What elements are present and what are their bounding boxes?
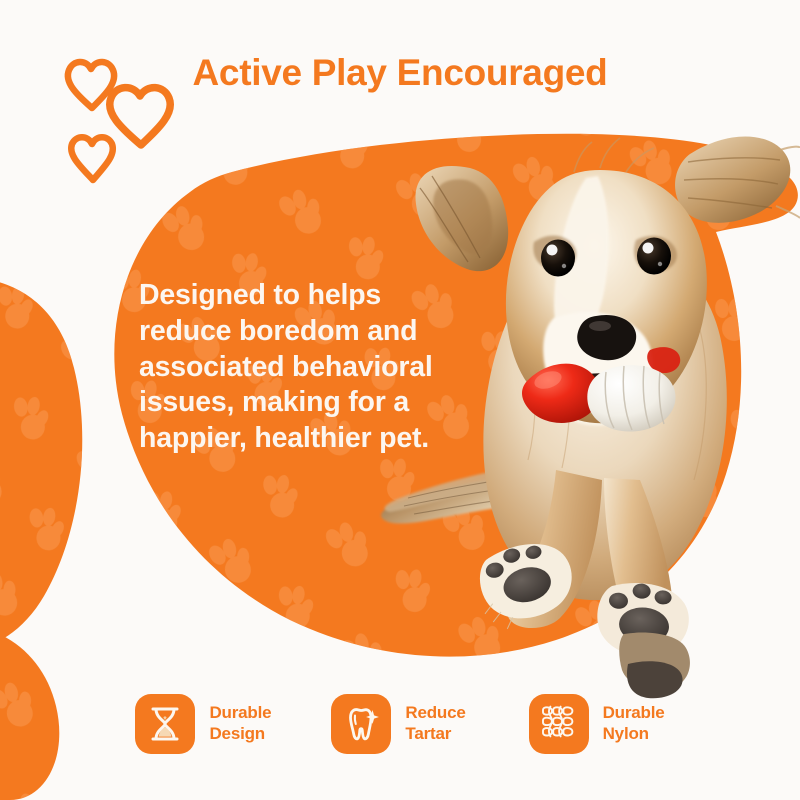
body-line: reduce boredom and xyxy=(139,314,479,350)
body-line: associated behavioral xyxy=(139,350,479,386)
dog-eye-right xyxy=(637,238,671,275)
body-copy: Designed to helps reduce boredom and ass… xyxy=(139,278,479,457)
body-line: happier, healthier pet. xyxy=(139,421,479,457)
dog-eye-left xyxy=(541,240,575,277)
dog-ear-left xyxy=(415,166,508,271)
badge-tile xyxy=(529,694,589,754)
badge-label-line1: Durable xyxy=(603,703,665,722)
body-line: Designed to helps xyxy=(139,278,479,314)
promo-banner: Active Play Encouraged xyxy=(0,0,800,800)
hourglass-icon xyxy=(145,704,185,744)
badge-label-line2: Tartar xyxy=(405,724,465,745)
dog-ear-right xyxy=(675,137,800,223)
feature-badge-durable-nylon[interactable]: Durable Nylon xyxy=(529,694,665,754)
badge-tile xyxy=(135,694,195,754)
badge-label: Durable Nylon xyxy=(603,703,665,744)
tooth-sparkle-icon xyxy=(341,704,381,744)
badge-label-line2: Nylon xyxy=(603,724,665,745)
nylon-weave-icon xyxy=(539,704,579,744)
feature-badge-reduce-tartar[interactable]: Reduce Tartar xyxy=(331,694,465,754)
feature-badge-durable-design[interactable]: Durable Design xyxy=(135,694,271,754)
badge-tile xyxy=(331,694,391,754)
badge-label-line1: Durable xyxy=(209,703,271,722)
badge-label-line2: Design xyxy=(209,724,271,745)
badge-label: Durable Design xyxy=(209,703,271,744)
body-line: issues, making for a xyxy=(139,385,479,421)
toy-white-end xyxy=(587,365,675,431)
feature-badges: Durable Design Reduce Tartar xyxy=(0,694,800,774)
badge-label-line1: Reduce xyxy=(405,703,465,722)
badge-label: Reduce Tartar xyxy=(405,703,465,744)
